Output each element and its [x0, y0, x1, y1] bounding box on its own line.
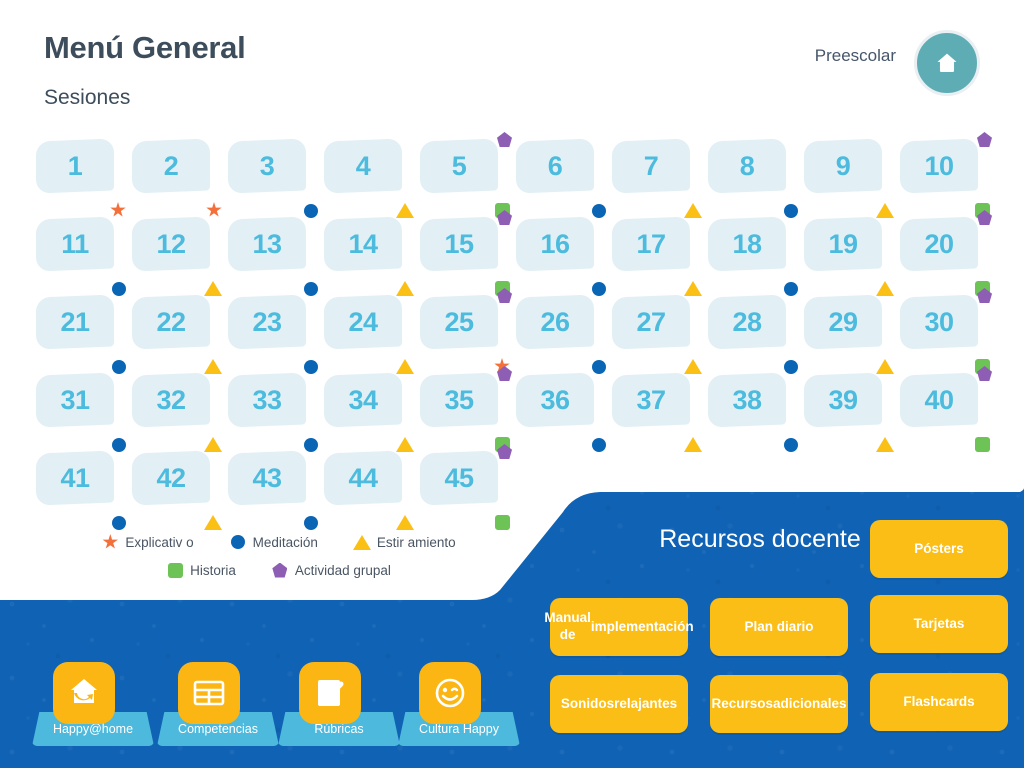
session-tile-28[interactable]: 28: [708, 296, 804, 374]
session-tile-bg[interactable]: [612, 139, 690, 194]
explicative-star-marker: [102, 534, 118, 550]
session-tile-30[interactable]: 30: [900, 296, 996, 374]
stretching-triangle-marker: [204, 281, 222, 296]
meditation-dot-marker: [231, 535, 245, 549]
history-square-marker: [975, 203, 990, 218]
tile-marker-bottom: [684, 359, 702, 374]
session-tile-4[interactable]: 4: [324, 140, 420, 218]
resource-button-label: Sonidos: [561, 696, 614, 713]
session-tile-bg[interactable]: [900, 217, 978, 272]
session-tile-3[interactable]: 3: [228, 140, 324, 218]
resource-button-label: Plan diario: [744, 619, 813, 636]
session-tile-bg[interactable]: [228, 139, 306, 194]
resource-button-label: adicionales: [773, 696, 847, 713]
session-tile-9[interactable]: 9: [804, 140, 900, 218]
session-tile-bg[interactable]: [516, 217, 594, 272]
session-tile-bg[interactable]: [612, 373, 690, 428]
nav-item-label: Cultura Happy: [419, 722, 499, 736]
session-tile-33[interactable]: 33: [228, 374, 324, 452]
session-tile-bg[interactable]: [228, 373, 306, 428]
tile-marker-bottom: [975, 203, 990, 218]
session-tile-bg[interactable]: [132, 373, 210, 428]
session-tile-34[interactable]: 34: [324, 374, 420, 452]
resource-button-label: Pósters: [914, 541, 964, 558]
nav-item-icon-tile[interactable]: [299, 662, 361, 724]
session-tile-7[interactable]: 7: [612, 140, 708, 218]
resource-button-plan-diario[interactable]: Plan diario: [710, 598, 848, 656]
session-tile-2[interactable]: 2: [132, 140, 228, 218]
legend-item: Explicativ o: [102, 534, 193, 550]
explicative-star-marker: [206, 202, 222, 218]
legend-label: Estir amiento: [377, 535, 456, 550]
tile-marker-bottom: [684, 281, 702, 296]
resource-button-pósters[interactable]: Pósters: [870, 520, 1008, 578]
tile-marker-bottom: [396, 281, 414, 296]
session-tile-10[interactable]: 10: [900, 140, 996, 218]
resource-button-label: implementación: [591, 619, 694, 636]
checklist-icon: [313, 676, 347, 710]
home-icon: [934, 50, 960, 76]
session-tile-38[interactable]: 38: [708, 374, 804, 452]
resource-button-flashcards[interactable]: Flashcards: [870, 673, 1008, 731]
session-tile-12[interactable]: 12: [132, 218, 228, 296]
stretching-triangle-marker: [396, 281, 414, 296]
session-tile-bg[interactable]: [612, 295, 690, 350]
legend-glyph: [230, 534, 246, 550]
nav-item-icon-tile[interactable]: [53, 662, 115, 724]
session-tile-bg[interactable]: [420, 373, 498, 428]
resource-button-tarjetas[interactable]: Tarjetas: [870, 595, 1008, 653]
meditation-dot-marker: [112, 282, 126, 296]
meditation-dot-marker: [784, 204, 798, 218]
session-tile-bg[interactable]: [612, 217, 690, 272]
session-tile-18[interactable]: 18: [708, 218, 804, 296]
stretching-triangle-marker: [684, 437, 702, 452]
tile-marker-bottom: [784, 204, 798, 218]
session-tile-15[interactable]: 15: [420, 218, 516, 296]
session-tile-1[interactable]: 1: [36, 140, 132, 218]
explicative-star-marker: [494, 358, 510, 374]
resources-panel: Recursos docente PóstersManual deimpleme…: [560, 490, 1024, 768]
legend-glyph: [167, 562, 183, 578]
tile-marker-bottom: [110, 202, 126, 218]
stretching-triangle-marker: [396, 359, 414, 374]
legend-row-2: HistoriaActividad grupal: [44, 556, 514, 584]
level-label: Preescolar: [815, 46, 896, 66]
session-tile-bg[interactable]: [324, 139, 402, 194]
resource-button-label: Tarjetas: [914, 616, 965, 633]
session-tile-32[interactable]: 32: [132, 374, 228, 452]
page-subtitle: Sesiones: [44, 86, 130, 110]
session-row: 11121314151617181920: [36, 218, 996, 296]
session-tile-6[interactable]: 6: [516, 140, 612, 218]
tile-marker-bottom: [204, 437, 222, 452]
legend-row-1: Explicativ oMeditaciónEstir amiento: [44, 528, 514, 556]
session-tile-41[interactable]: 41: [36, 452, 132, 530]
session-tile-36[interactable]: 36: [516, 374, 612, 452]
session-tile-bg[interactable]: [516, 373, 594, 428]
session-tile-bg[interactable]: [708, 295, 786, 350]
session-tile-17[interactable]: 17: [612, 218, 708, 296]
session-tile-bg[interactable]: [324, 451, 402, 506]
tile-marker-bottom: [592, 204, 606, 218]
nav-item-label: Rúbricas: [314, 722, 363, 736]
meditation-dot-marker: [112, 438, 126, 452]
meditation-dot-marker: [304, 204, 318, 218]
session-tile-39[interactable]: 39: [804, 374, 900, 452]
session-tile-40[interactable]: 40: [900, 374, 996, 452]
resource-button-recursos-adicionales[interactable]: Recursosadicionales: [710, 675, 848, 733]
session-tile-bg[interactable]: [420, 295, 498, 350]
resource-button-label: relajantes: [614, 696, 677, 713]
nav-item-icon-tile[interactable]: [419, 662, 481, 724]
tile-marker-bottom: [975, 359, 990, 374]
stretching-triangle-marker: [876, 359, 894, 374]
session-tile-bg[interactable]: [132, 217, 210, 272]
legend-item: Historia: [167, 562, 236, 578]
stretching-triangle-marker: [876, 281, 894, 296]
legend-glyph: [272, 562, 288, 578]
session-tile-bg[interactable]: [36, 295, 114, 350]
session-tile-8[interactable]: 8: [708, 140, 804, 218]
session-tile-bg[interactable]: [132, 451, 210, 506]
tile-marker-bottom: [396, 437, 414, 452]
history-square-marker: [495, 281, 510, 296]
session-tile-16[interactable]: 16: [516, 218, 612, 296]
bottom-navigation: Happy@homeCompetenciasRúbricasCultura Ha…: [0, 638, 560, 768]
session-tile-bg[interactable]: [324, 373, 402, 428]
legend-label: Historia: [190, 563, 236, 578]
tile-marker-bottom: [684, 203, 702, 218]
session-tile-bg[interactable]: [900, 139, 978, 194]
session-tile-bg[interactable]: [804, 295, 882, 350]
history-square-marker: [975, 281, 990, 296]
tile-marker-bottom: [592, 360, 606, 374]
session-tile-14[interactable]: 14: [324, 218, 420, 296]
resource-button-label: Flashcards: [903, 694, 974, 711]
meditation-dot-marker: [784, 282, 798, 296]
session-tile-bg[interactable]: [804, 217, 882, 272]
nav-item-icon-tile[interactable]: [178, 662, 240, 724]
session-row: 21222324252627282930: [36, 296, 996, 374]
tile-marker-bottom: [592, 438, 606, 452]
session-tile-20[interactable]: 20: [900, 218, 996, 296]
session-tile-44[interactable]: 44: [324, 452, 420, 530]
page-header: Menú General Sesiones Preescolar: [0, 0, 1024, 120]
stretching-triangle-marker: [684, 281, 702, 296]
stretching-triangle-marker: [684, 359, 702, 374]
tile-marker-bottom: [204, 359, 222, 374]
session-tile-bg[interactable]: [36, 451, 114, 506]
legend-label: Meditación: [253, 535, 318, 550]
tile-marker-bottom: [304, 204, 318, 218]
session-tile-25[interactable]: 25: [420, 296, 516, 374]
session-tile-bg[interactable]: [516, 295, 594, 350]
session-tile-bg[interactable]: [708, 139, 786, 194]
session-tile-bg[interactable]: [708, 217, 786, 272]
tile-marker-bottom: [784, 360, 798, 374]
meditation-dot-marker: [784, 360, 798, 374]
session-tile-11[interactable]: 11: [36, 218, 132, 296]
tile-marker-bottom: [304, 438, 318, 452]
legend-label: Actividad grupal: [295, 563, 391, 578]
meditation-dot-marker: [592, 360, 606, 374]
session-tile-bg[interactable]: [36, 139, 114, 194]
home-button[interactable]: [914, 30, 980, 96]
nav-item-label: Competencias: [178, 722, 258, 736]
history-square-marker: [168, 563, 183, 578]
tile-marker-bottom: [876, 359, 894, 374]
tile-marker-bottom: [592, 282, 606, 296]
group-activity-pentagon-marker: [272, 563, 287, 578]
session-tile-26[interactable]: 26: [516, 296, 612, 374]
explicative-star-marker: [110, 202, 126, 218]
session-tile-bg[interactable]: [324, 217, 402, 272]
tile-marker-bottom: [396, 203, 414, 218]
session-tile-bg[interactable]: [900, 373, 978, 428]
tile-marker-bottom: [396, 359, 414, 374]
tile-marker-bottom: [784, 282, 798, 296]
session-grid: 1234567891011121314151617181920212223242…: [36, 140, 996, 530]
tile-marker-bottom: [876, 437, 894, 452]
history-square-marker: [495, 437, 510, 452]
session-tile-bg[interactable]: [804, 373, 882, 428]
session-tile-29[interactable]: 29: [804, 296, 900, 374]
stretching-triangle-marker: [396, 203, 414, 218]
session-tile-bg[interactable]: [708, 373, 786, 428]
session-tile-bg[interactable]: [900, 295, 978, 350]
session-tile-21[interactable]: 21: [36, 296, 132, 374]
tile-marker-bottom: [784, 438, 798, 452]
tile-marker-bottom: [495, 281, 510, 296]
session-tile-5[interactable]: 5: [420, 140, 516, 218]
tile-marker-bottom: [304, 360, 318, 374]
legend-glyph: [102, 534, 118, 550]
tile-marker-bottom: [495, 203, 510, 218]
tile-marker-bottom: [876, 281, 894, 296]
legend-item: Meditación: [230, 534, 318, 550]
session-tile-43[interactable]: 43: [228, 452, 324, 530]
home-arrow-icon: [67, 676, 101, 710]
session-tile-42[interactable]: 42: [132, 452, 228, 530]
resource-button-manual-de-implementación[interactable]: Manual deimplementación: [550, 598, 688, 656]
stretching-triangle-marker: [396, 437, 414, 452]
stretching-triangle-marker: [876, 203, 894, 218]
legend-item: Actividad grupal: [272, 562, 391, 578]
session-tile-24[interactable]: 24: [324, 296, 420, 374]
app-root: Menú General Sesiones Preescolar 1234567…: [0, 0, 1024, 768]
legend: Explicativ oMeditaciónEstir amiento Hist…: [44, 528, 514, 584]
resource-button-label: Recursos: [711, 696, 773, 713]
session-tile-bg[interactable]: [420, 217, 498, 272]
session-tile-19[interactable]: 19: [804, 218, 900, 296]
session-tile-27[interactable]: 27: [612, 296, 708, 374]
page-title: Menú General: [44, 30, 245, 66]
tile-marker-bottom: [112, 282, 126, 296]
history-square-marker: [975, 437, 990, 452]
legend-glyph: [354, 534, 370, 550]
session-tile-bg[interactable]: [132, 139, 210, 194]
table-grid-icon: [192, 676, 226, 710]
session-row: 12345678910: [36, 140, 996, 218]
meditation-dot-marker: [304, 282, 318, 296]
tile-marker-bottom: [495, 437, 510, 452]
session-tile-45[interactable]: 45: [420, 452, 516, 530]
session-tile-bg[interactable]: [132, 295, 210, 350]
session-tile-bg[interactable]: [36, 373, 114, 428]
session-tile-bg[interactable]: [228, 451, 306, 506]
tile-marker-bottom: [112, 438, 126, 452]
tile-marker-bottom: [494, 358, 510, 374]
legend-label: Explicativ o: [125, 535, 193, 550]
session-tile-22[interactable]: 22: [132, 296, 228, 374]
session-tile-37[interactable]: 37: [612, 374, 708, 452]
session-tile-bg[interactable]: [228, 217, 306, 272]
meditation-dot-marker: [592, 204, 606, 218]
nav-item-label: Happy@home: [53, 722, 133, 736]
tile-marker-bottom: [975, 437, 990, 452]
tile-marker-bottom: [304, 282, 318, 296]
stretching-triangle-marker: [204, 359, 222, 374]
session-tile-bg[interactable]: [804, 139, 882, 194]
session-tile-23[interactable]: 23: [228, 296, 324, 374]
session-tile-bg[interactable]: [516, 139, 594, 194]
session-tile-bg[interactable]: [420, 451, 498, 506]
session-tile-13[interactable]: 13: [228, 218, 324, 296]
tile-marker-bottom: [206, 202, 222, 218]
tile-marker-bottom: [204, 281, 222, 296]
history-square-marker: [495, 203, 510, 218]
meditation-dot-marker: [112, 360, 126, 374]
legend-item: Estir amiento: [354, 534, 456, 550]
stretching-triangle-marker: [876, 437, 894, 452]
smiley-wink-icon: [433, 676, 467, 710]
session-tile-bg[interactable]: [36, 217, 114, 272]
meditation-dot-marker: [784, 438, 798, 452]
meditation-dot-marker: [304, 360, 318, 374]
meditation-dot-marker: [304, 438, 318, 452]
history-square-marker: [975, 359, 990, 374]
stretching-triangle-marker: [353, 535, 371, 550]
session-tile-bg[interactable]: [420, 139, 498, 194]
tile-marker-bottom: [975, 281, 990, 296]
meditation-dot-marker: [592, 438, 606, 452]
session-tile-31[interactable]: 31: [36, 374, 132, 452]
session-tile-bg[interactable]: [228, 295, 306, 350]
resource-button-sonidos-relajantes[interactable]: Sonidosrelajantes: [550, 675, 688, 733]
session-tile-35[interactable]: 35: [420, 374, 516, 452]
tile-marker-bottom: [684, 437, 702, 452]
tile-marker-bottom: [876, 203, 894, 218]
stretching-triangle-marker: [204, 437, 222, 452]
tile-marker-bottom: [112, 360, 126, 374]
session-row: 31323334353637383940: [36, 374, 996, 452]
session-tile-bg[interactable]: [324, 295, 402, 350]
meditation-dot-marker: [592, 282, 606, 296]
stretching-triangle-marker: [684, 203, 702, 218]
